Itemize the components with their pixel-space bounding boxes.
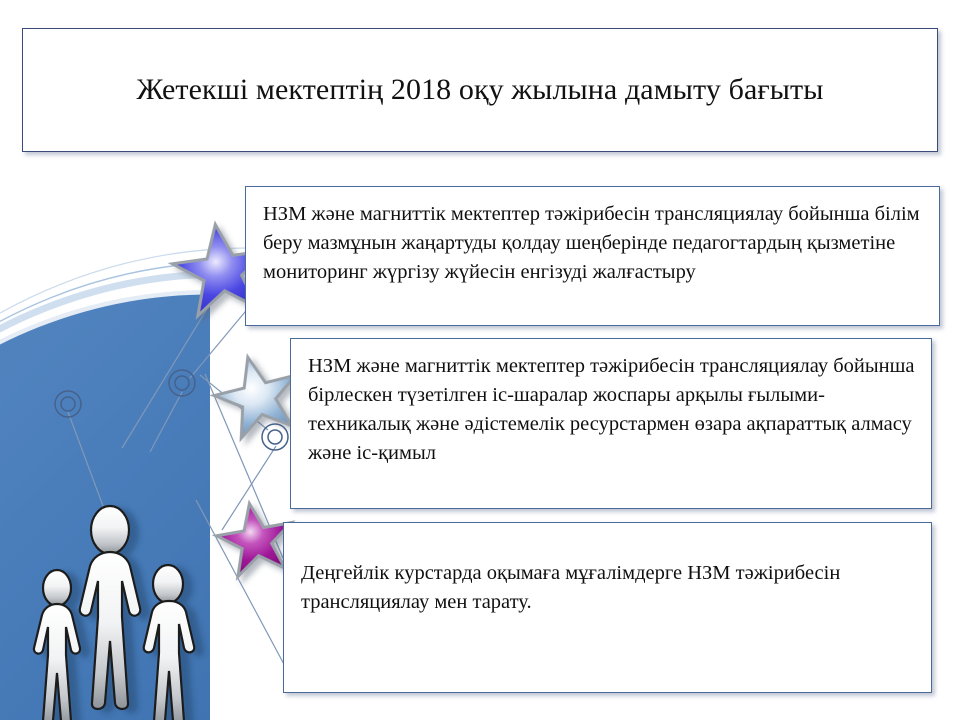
ring-marker-3 [262, 424, 288, 450]
callout-box-2: НЗМ және магниттік мектептер тәжірибесін… [290, 338, 932, 509]
person-small-right [144, 565, 195, 720]
callout-box-3: Деңгейлік курстарда оқымаға мұғалімдерге… [283, 522, 932, 693]
ring-marker-1 [55, 391, 81, 417]
people-group [34, 506, 194, 720]
blue-arc-shape [0, 248, 250, 720]
callout-text-2: НЗМ және магниттік мектептер тәжірибесін… [291, 339, 931, 478]
slide-title-box: Жетекші мектептің 2018 оқу жылына дамыту… [22, 28, 938, 152]
person-small-left [34, 570, 80, 720]
callout-text-1: НЗМ және магниттік мектептер тәжірибесін… [246, 187, 939, 297]
ring-marker-2 [169, 370, 195, 396]
callout-text-3: Деңгейлік курстарда оқымаға мұғалімдерге… [284, 523, 931, 627]
ring-markers [55, 370, 288, 450]
page-title: Жетекші мектептің 2018 оқу жылына дамыту… [137, 73, 824, 107]
slide-canvas: Жетекші мектептің 2018 оқу жылына дамыту… [0, 0, 960, 720]
person-tall-center [80, 506, 140, 709]
callout-box-1: НЗМ және магниттік мектептер тәжірибесін… [245, 186, 940, 326]
